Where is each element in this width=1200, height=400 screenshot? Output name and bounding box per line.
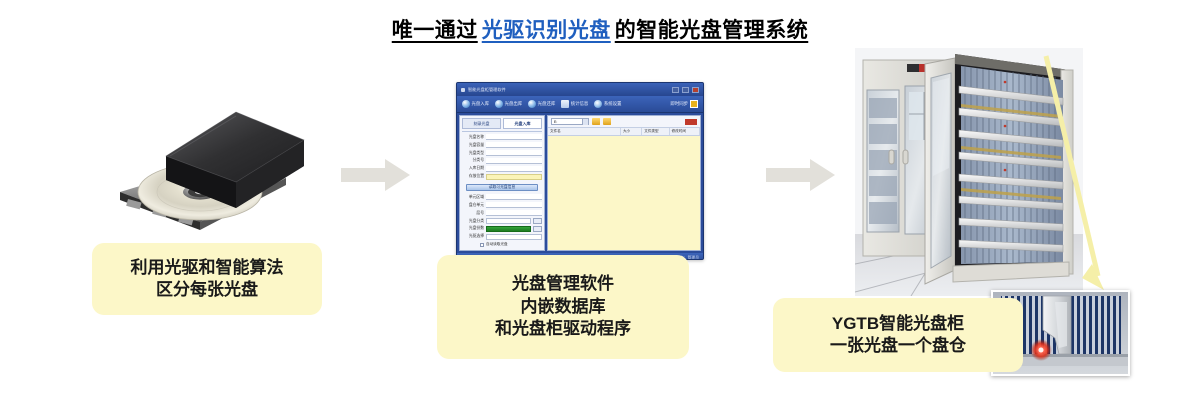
callout-line: 内嵌数据库: [521, 296, 606, 318]
disc-cabinet-photo: [855, 48, 1083, 296]
stats-icon: [561, 100, 569, 108]
field-label: 存放位置: [462, 174, 484, 179]
software-titlebar: 智能光盘柜管理软件: [457, 83, 703, 96]
toolbar-label: 光盘入库: [472, 101, 490, 107]
field-label: 分类号: [462, 158, 484, 163]
open-glass-door: [925, 58, 955, 284]
toolbar-sync[interactable]: 即时同步: [668, 99, 700, 109]
field-label: 光盘分类: [462, 219, 484, 224]
software-left-panel: 刻录光盘 光盘入库 光盘名称 光盘容量 光盘类型 分类号: [459, 115, 545, 251]
software-body: 刻录光盘 光盘入库 光盘名称 光盘容量 光盘类型 分类号: [457, 113, 703, 253]
close-button[interactable]: [692, 87, 699, 93]
app-icon: [461, 88, 465, 92]
column-header[interactable]: 文件名: [548, 128, 621, 135]
dvd-drive-photo: [108, 104, 308, 232]
field-in-date[interactable]: 入库日期: [462, 166, 542, 172]
software-screenshot: 智能光盘柜管理软件 光盘入库 光盘出库 光盘还库 统计信息: [456, 82, 704, 260]
toolbar-stats[interactable]: 统计信息: [559, 99, 590, 109]
tab-burn-disc[interactable]: 刻录光盘: [462, 118, 501, 129]
field-input[interactable]: [486, 194, 542, 200]
drive-path-value: E:: [552, 120, 557, 124]
callout-line: 和光盘柜驱动程序: [495, 318, 631, 340]
field-label: 光驱选择: [462, 234, 484, 239]
callout-cabinet: YGTB智能光盘柜 一张光盘一个盘仓: [773, 298, 1023, 372]
file-list-header: 文件名 大小 文件类型 修改时间: [548, 128, 700, 136]
open-disc-cabinet: [953, 54, 1073, 282]
software-tabs: 刻录光盘 光盘入库: [462, 118, 542, 132]
toolbar-disc-return[interactable]: 光盘还库: [526, 99, 557, 109]
field-layer-no[interactable]: 层号: [462, 210, 542, 216]
disc-in-icon: [462, 100, 470, 108]
field-label: 光盘名称: [462, 135, 484, 140]
field-label: 入库日期: [462, 166, 484, 171]
chevron-down-icon[interactable]: [582, 119, 588, 125]
field-disc-classification[interactable]: 光盘分类: [462, 218, 542, 224]
drive-path-combo[interactable]: E:: [551, 118, 589, 125]
field-label: 光盘份数: [462, 226, 484, 231]
toolbar-label: 光盘还库: [538, 101, 556, 107]
field-input[interactable]: [486, 134, 542, 140]
callout-software: 光盘管理软件 内嵌数据库 和光盘柜驱动程序: [437, 255, 689, 359]
title-suffix: 的智能光盘管理系统: [615, 19, 809, 42]
field-label: 光盘容量: [462, 143, 484, 148]
field-category-no[interactable]: 分类号: [462, 158, 542, 164]
classification-select[interactable]: [486, 218, 531, 224]
toolbar-disc-out[interactable]: 光盘出库: [493, 99, 524, 109]
toolbar-label: 即时同步: [670, 101, 688, 107]
field-storage-location[interactable]: 存放位置: [462, 174, 542, 180]
callout-line: YGTB智能光盘柜: [832, 313, 964, 335]
callout-line: 光盘管理软件: [512, 273, 614, 295]
toolbar-label: 统计信息: [571, 101, 589, 107]
sync-icon: [690, 100, 698, 108]
disc-out-icon: [495, 100, 503, 108]
page-title: 唯一通过光驱识别光盘的智能光盘管理系统: [0, 14, 1200, 44]
minimize-button[interactable]: [672, 87, 679, 93]
arrow-drive-to-software: [341, 158, 411, 192]
drive-select[interactable]: [486, 234, 542, 240]
field-drive-select[interactable]: 光驱选择: [462, 234, 542, 240]
copies-progress: [486, 226, 531, 232]
toolbar-disc-in[interactable]: 光盘入库: [460, 99, 491, 109]
field-slot-unit[interactable]: 盘仓单元: [462, 202, 542, 208]
software-window-title: 智能光盘柜管理软件: [468, 87, 506, 93]
field-label: 光盘类型: [462, 151, 484, 156]
callout-line: 一张光盘一个盘仓: [830, 335, 966, 357]
toolbar-settings[interactable]: 系统设置: [592, 99, 623, 109]
field-unit-area[interactable]: 单元区域: [462, 194, 542, 200]
field-input[interactable]: [486, 210, 542, 216]
field-input[interactable]: [486, 166, 542, 172]
folder-icon[interactable]: [592, 118, 600, 125]
column-header[interactable]: 修改时间: [670, 128, 700, 135]
field-input[interactable]: [486, 142, 542, 148]
auto-read-checkbox[interactable]: [480, 243, 484, 247]
callout-drive: 利用光驱和智能算法 区分每张光盘: [92, 243, 322, 315]
delete-area: [683, 119, 697, 125]
field-label: 盘仓单元: [462, 203, 484, 208]
read-disc-info-button[interactable]: 读取可光盘信息: [466, 184, 538, 191]
file-browser-toolbar: E:: [548, 116, 700, 128]
title-prefix: 唯一通过: [392, 19, 478, 42]
maximize-button[interactable]: [682, 87, 689, 93]
field-label: 层号: [462, 211, 484, 216]
field-input[interactable]: [486, 174, 542, 180]
callout-line: 利用光驱和智能算法: [131, 257, 284, 279]
field-disc-copies[interactable]: 光盘份数: [462, 226, 542, 232]
software-right-panel: E: 文件名 大小 文件类型 修改时间: [547, 115, 701, 251]
disc-return-icon: [528, 100, 536, 108]
field-input[interactable]: [486, 158, 542, 164]
field-input[interactable]: [486, 150, 542, 156]
software-toolbar: 光盘入库 光盘出库 光盘还库 统计信息 系统设置 即时同步: [457, 96, 703, 113]
file-list[interactable]: [548, 136, 700, 250]
field-input[interactable]: [486, 202, 542, 208]
toolbar-label: 光盘出库: [505, 101, 523, 107]
tab-disc-in[interactable]: 光盘入库: [503, 118, 542, 129]
column-header[interactable]: 大小: [621, 128, 642, 135]
field-label: 单元区域: [462, 195, 484, 200]
gear-icon: [594, 100, 602, 108]
field-disc-name[interactable]: 光盘名称: [462, 134, 542, 140]
callout-line: 区分每张光盘: [156, 279, 258, 301]
copies-stepper[interactable]: [533, 226, 542, 232]
slide-root: 唯一通过光驱识别光盘的智能光盘管理系统: [0, 0, 1200, 400]
delete-button[interactable]: [685, 119, 697, 125]
column-header[interactable]: 文件类型: [642, 128, 669, 135]
field-disc-type[interactable]: 光盘类型: [462, 150, 542, 156]
add-classification-button[interactable]: [533, 218, 542, 224]
arrow-software-to-cabinet: [766, 158, 836, 192]
auto-read-label: 自动读取光盘: [486, 242, 508, 247]
field-disc-capacity[interactable]: 光盘容量: [462, 142, 542, 148]
field-auto-read[interactable]: 自动读取光盘: [462, 242, 542, 248]
toolbar-label: 系统设置: [604, 101, 622, 107]
title-highlight: 光驱识别光盘: [478, 19, 615, 42]
folder-open-icon[interactable]: [603, 118, 611, 125]
